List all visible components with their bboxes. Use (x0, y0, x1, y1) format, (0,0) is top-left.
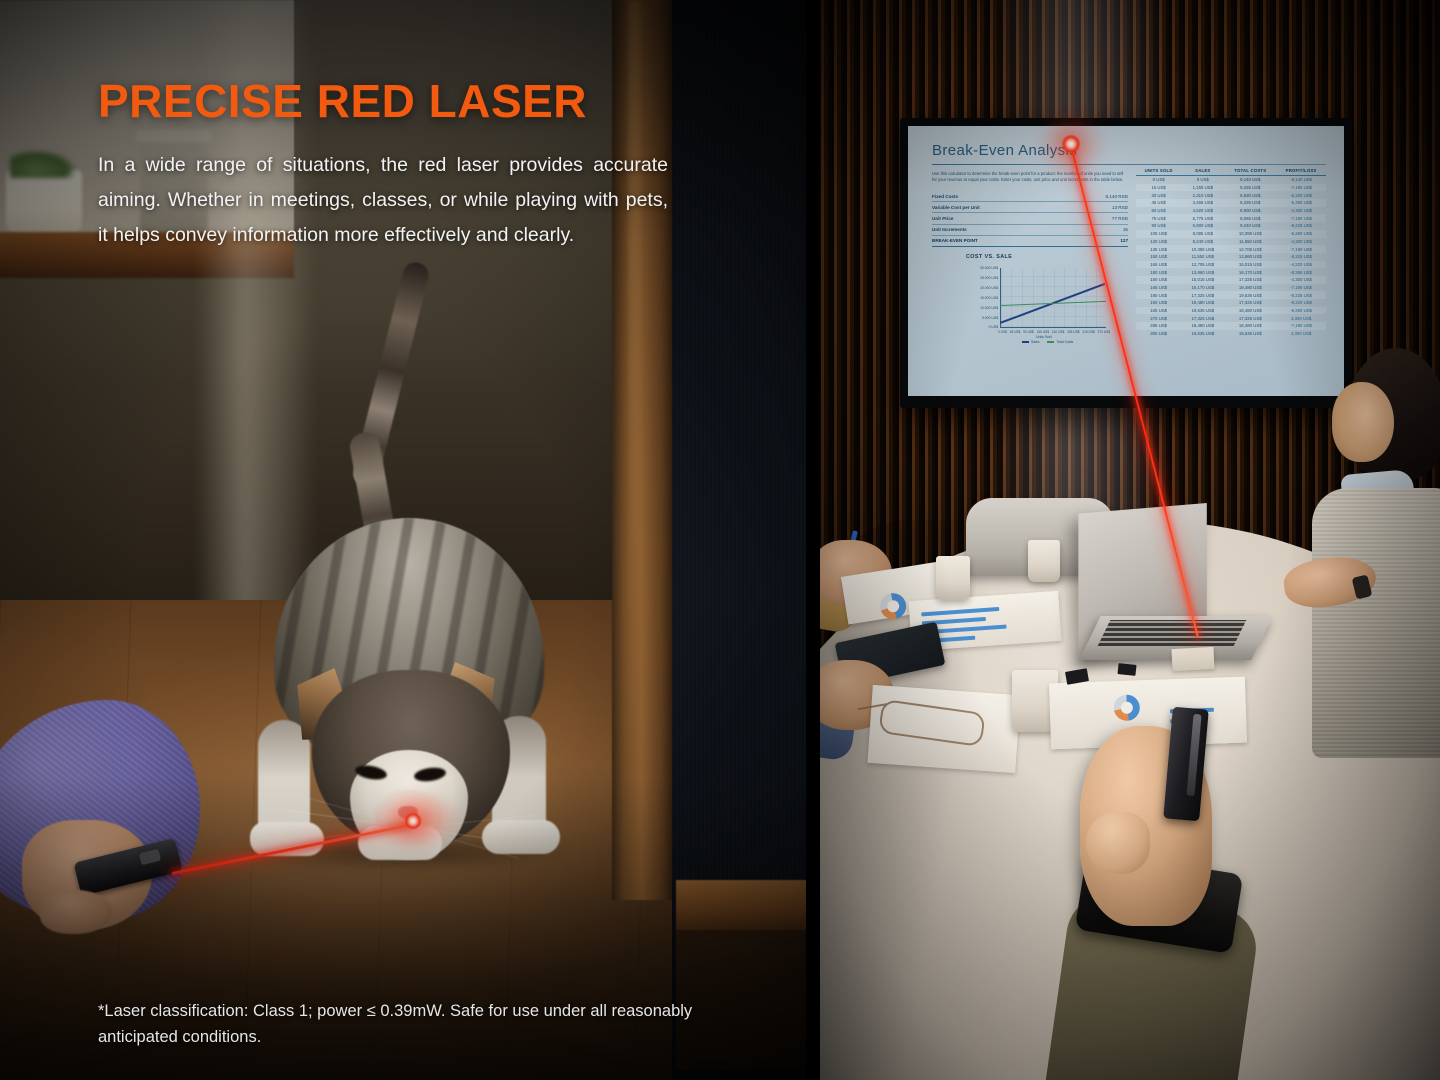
legend-label-total-costs: Total Costs (1056, 340, 1073, 344)
donut-chart-icon-2 (1113, 694, 1140, 721)
participant-woman (1296, 348, 1440, 768)
presenter-thumb (1086, 812, 1150, 874)
table-cell: 15,015 US$ (1181, 276, 1224, 284)
sticky-note (1171, 647, 1214, 671)
table-cell: 18,480 US$ (1181, 299, 1224, 307)
right-panel-meeting-scene: Break-Even Analysis Use this calculator … (818, 0, 1440, 1080)
table-cell: 285 US$ (1136, 322, 1181, 330)
table-cell: 17,325 US$ (1224, 314, 1276, 322)
table-cell: 19,635 US$ (1181, 330, 1224, 338)
column-header: TOTAL COSTS (1224, 168, 1276, 176)
table-cell: 13,860 US$ (1224, 253, 1276, 261)
table-cell: 16,170 US$ (1181, 284, 1224, 292)
page-title: PRECISE RED LASER (98, 74, 587, 128)
plant-leaves-icon (10, 150, 76, 178)
y-tick-3: 15.000 US$ (980, 296, 998, 300)
data-table-head: UNITS SOLDSALESTOTAL COSTSPROFIT/LOSS (1136, 168, 1326, 176)
table-cell: 60 US$ (1136, 207, 1181, 215)
cat (230, 250, 590, 850)
table-row: 60 US$4,620 US$8,900 US$-4,300 US$ (1136, 207, 1326, 215)
x-tick-label: 90 US$ (1023, 330, 1034, 334)
column-header: UNITS SOLD (1136, 168, 1181, 176)
slide-title: Break-Even Analysis (932, 142, 1326, 159)
cost-vs-sale-chart: 30.000 US$ 25.000 US$ 20.000 US$ 15.000 … (960, 264, 1108, 338)
slide-title-rule (932, 164, 1326, 165)
table-cell: 135 US$ (1136, 245, 1181, 253)
parameter-value: 13 RSD (1065, 202, 1128, 213)
table-row: 0 US$0 US$8,140 US$-8,140 US$ (1136, 176, 1326, 184)
woman-face (1332, 382, 1394, 462)
y-tick-6: 0 US$ (989, 325, 998, 329)
table-row: 120 US$9,240 US$11,550 US$-4,300 US$ (1136, 238, 1326, 246)
table-cell: 180 US$ (1136, 291, 1181, 299)
x-axis-label: Units Sold (1036, 335, 1051, 339)
table-cell: 17,325 US$ (1224, 299, 1276, 307)
table-cell: 150 US$ (1136, 276, 1181, 284)
table-cell: 16,170 US$ (1224, 268, 1276, 276)
table-cell: 165 US$ (1136, 307, 1181, 315)
table-cell: -6,220 US$ (1276, 191, 1326, 199)
plant-pot-left (6, 170, 82, 236)
y-tick-5: 5.000 US$ (982, 316, 998, 320)
table-cell: 8,530 US$ (1224, 191, 1276, 199)
legend-item-total-costs: Total Costs (1047, 340, 1073, 344)
table-cell: -7,190 US$ (1276, 284, 1326, 292)
table-row: 150 US$11,550 US$13,860 US$-8,225 US$ (1136, 253, 1326, 261)
parameter-row: BREAK-EVEN POINT127 (932, 235, 1128, 246)
left-panel-cat-scene: PRECISE RED LASER In a wide range of sit… (0, 0, 812, 1080)
table-cell: 9,240 US$ (1224, 222, 1276, 230)
parameter-row: Fixed Costs8,140 RSD (932, 191, 1128, 202)
table-row: 165 US$16,170 US$18,480 US$-7,190 US$ (1136, 284, 1326, 292)
door-jamb-highlight (628, 0, 640, 900)
table-cell: 2,310 US$ (1181, 191, 1224, 199)
chart-series-group (1000, 268, 1106, 328)
x-tick-label: 140 US$ (1052, 330, 1064, 334)
y-tick-4: 10.000 US$ (980, 306, 998, 310)
fingers-left (40, 890, 112, 934)
parameter-row: Variable Cost per Unit13 RSD (932, 202, 1128, 213)
cat-paw-right (482, 820, 560, 854)
binder-clip-2 (1117, 663, 1136, 676)
table-cell: 11,550 US$ (1181, 253, 1224, 261)
parameter-label: Unit Price (932, 213, 1065, 224)
table-cell: -8,290 US$ (1276, 268, 1326, 276)
data-table-header-row: UNITS SOLDSALESTOTAL COSTSPROFIT/LOSS (1136, 168, 1326, 176)
legend-item-sales: Sales (1022, 340, 1039, 344)
table-cell: -8,225 US$ (1276, 222, 1326, 230)
table-cell: 1,155 US$ (1181, 184, 1224, 192)
x-tick-label: 270 US$ (1098, 330, 1110, 334)
table-cell: 0 US$ (1136, 176, 1181, 184)
parameters-table-body: Fixed Costs8,140 RSDVariable Cost per Un… (932, 191, 1128, 246)
table-cell: 19,635 US$ (1224, 330, 1276, 338)
laser-dot-on-screen (1061, 134, 1081, 154)
table-cell: -5,260 US$ (1276, 230, 1326, 238)
parameter-value: 8,140 RSD (1065, 191, 1128, 202)
table-row: 75 US$5,775 US$8,065 US$-7,190 US$ (1136, 214, 1326, 222)
table-cell: 8,900 US$ (1224, 207, 1276, 215)
slide-intro-text: Use this calculator to determine the bre… (932, 171, 1128, 183)
chart-title: COST VS. SALE (966, 254, 1012, 260)
table-row: 135 US$10,395 US$12,705 US$-7,190 US$ (1136, 245, 1326, 253)
x-tick-label: 215 US$ (1082, 330, 1094, 334)
bar-1 (921, 607, 999, 616)
x-tick-label: 0 US$ (998, 330, 1007, 334)
table-cell: -7,190 US$ (1276, 245, 1326, 253)
y-tick-1: 25.000 US$ (980, 276, 998, 280)
laptop-keyboard[interactable] (1098, 620, 1247, 646)
table-cell: -4,300 US$ (1276, 207, 1326, 215)
table-cell: 45 US$ (1136, 199, 1181, 207)
table-cell: -8,225 US$ (1276, 291, 1326, 299)
table-row: 270 US$17,325 US$17,325 US$4,300 US$ (1136, 314, 1326, 322)
parameter-value: 15 (1065, 224, 1128, 235)
parameter-label: Variable Cost per Unit (932, 202, 1065, 213)
x-tick-labels: 0 US$45 US$90 US$135 US$140 US$205 US$21… (998, 330, 1110, 334)
legend-swatch-sales (1022, 341, 1029, 342)
table-row: 105 US$8,085 US$10,395 US$-5,260 US$ (1136, 230, 1326, 238)
table-cell: 165 US$ (1136, 284, 1181, 292)
table-cell: -8,290 US$ (1276, 307, 1326, 315)
table-cell: -4,300 US$ (1276, 276, 1326, 284)
table-cell: 15 US$ (1136, 184, 1181, 192)
parameter-label: Fixed Costs (932, 191, 1065, 202)
table-row: 150 US$18,480 US$17,325 US$-8,220 US$ (1136, 299, 1326, 307)
table-cell: 30 US$ (1136, 191, 1181, 199)
table-cell: -7,190 US$ (1276, 322, 1326, 330)
table-cell: 8,140 US$ (1224, 176, 1276, 184)
parameter-row: Unit Price77 RSD (932, 213, 1128, 224)
table-cell: 8,335 US$ (1224, 199, 1276, 207)
table-cell: -5,290 US$ (1276, 199, 1326, 207)
column-header: PROFIT/LOSS (1276, 168, 1326, 176)
table-row: 150 US$15,015 US$17,325 US$-4,300 US$ (1136, 276, 1326, 284)
table-row: 165 US$12,705 US$15,015 US$-4,220 US$ (1136, 261, 1326, 269)
table-cell: 13,860 US$ (1181, 268, 1224, 276)
table-cell: 12,705 US$ (1224, 245, 1276, 253)
legend-swatch-total-costs (1047, 341, 1054, 342)
table-cell: 120 US$ (1136, 238, 1181, 246)
cabinet-texture (672, 0, 812, 880)
table-cell: 18,480 US$ (1224, 284, 1276, 292)
table-cell: 4,620 US$ (1181, 207, 1224, 215)
table-cell: 105 US$ (1136, 230, 1181, 238)
table-cell: 10,395 US$ (1224, 230, 1276, 238)
table-row: 285 US$18,480 US$18,480 US$-7,190 US$ (1136, 322, 1326, 330)
table-cell: 12,705 US$ (1181, 261, 1224, 269)
door-jamb (612, 0, 676, 900)
table-cell: 19,635 US$ (1181, 307, 1224, 315)
table-cell: -8,140 US$ (1276, 176, 1326, 184)
table-row: 180 US$13,860 US$16,170 US$-8,290 US$ (1136, 268, 1326, 276)
table-cell: 19,635 US$ (1224, 291, 1276, 299)
table-cell: 165 US$ (1136, 261, 1181, 269)
table-cell: 150 US$ (1136, 299, 1181, 307)
table-cell: -8,220 US$ (1276, 299, 1326, 307)
table-cell: 150 US$ (1136, 253, 1181, 261)
laser-dot-left (404, 812, 422, 830)
table-cell: 6,900 US$ (1181, 222, 1224, 230)
table-cell: 15,015 US$ (1224, 261, 1276, 269)
table-cell: 270 US$ (1136, 314, 1181, 322)
table-cell: 17,325 US$ (1181, 314, 1224, 322)
body-copy: In a wide range of situations, the red l… (98, 148, 668, 253)
x-tick-label: 45 US$ (1010, 330, 1021, 334)
table-cell: -8,225 US$ (1276, 253, 1326, 261)
table-cell: 90 US$ (1136, 222, 1181, 230)
table-cell: 9,240 US$ (1181, 238, 1224, 246)
table-row: 45 US$3,465 US$8,335 US$-5,290 US$ (1136, 199, 1326, 207)
table-cell: -4,300 US$ (1276, 238, 1326, 246)
parameter-label: Unit Increments (932, 224, 1065, 235)
column-header: SALES (1181, 168, 1224, 176)
table-row: 165 US$19,635 US$18,480 US$-8,290 US$ (1136, 307, 1326, 315)
woman-jacket-texture (1312, 488, 1440, 758)
table-cell: 11,550 US$ (1224, 238, 1276, 246)
table-cell: 75 US$ (1136, 214, 1181, 222)
table-row: 15 US$1,155 US$8,335 US$-7,190 US$ (1136, 184, 1326, 192)
chart-legend: Sales Total Costs (1022, 340, 1073, 344)
data-table-body: 0 US$0 US$8,140 US$-8,140 US$15 US$1,155… (1136, 176, 1326, 338)
table-cell: 17,325 US$ (1181, 291, 1224, 299)
table-cell: 18,480 US$ (1224, 322, 1276, 330)
table-cell: 17,325 US$ (1224, 276, 1276, 284)
table-cell: 180 US$ (1136, 268, 1181, 276)
promo-banner: PRECISE RED LASER In a wide range of sit… (0, 0, 1440, 1080)
table-cell: 8,335 US$ (1224, 184, 1276, 192)
legend-label-sales: Sales (1031, 340, 1039, 344)
parameter-value: 77 RSD (1065, 213, 1128, 224)
table-cell: 8,065 US$ (1224, 214, 1276, 222)
x-tick-label: 205 US$ (1067, 330, 1079, 334)
coffee-mug-1 (936, 556, 970, 600)
y-tick-0: 30.000 US$ (980, 266, 998, 270)
table-row: 180 US$17,325 US$19,635 US$-8,225 US$ (1136, 291, 1326, 299)
laser-classification-footnote: *Laser classification: Class 1; power ≤ … (98, 998, 768, 1050)
table-cell: 4,300 US$ (1276, 314, 1326, 322)
table-cell: -7,190 US$ (1276, 184, 1326, 192)
table-cell: -4,220 US$ (1276, 261, 1326, 269)
table-cell: 300 US$ (1136, 330, 1181, 338)
parameters-table: Fixed Costs8,140 RSDVariable Cost per Un… (932, 191, 1128, 247)
break-even-data-table: UNITS SOLDSALESTOTAL COSTSPROFIT/LOSS 0 … (1136, 168, 1326, 337)
cabinet-wood-trim (676, 880, 812, 932)
table-cell: 8,085 US$ (1181, 230, 1224, 238)
coffee-mug-2 (1028, 540, 1060, 582)
table-cell: 3,465 US$ (1181, 199, 1224, 207)
y-tick-2: 20.000 US$ (980, 286, 998, 290)
parameter-label: BREAK-EVEN POINT (932, 235, 1065, 246)
table-cell: 18,480 US$ (1224, 307, 1276, 315)
parameter-row: Unit Increments15 (932, 224, 1128, 235)
table-cell: -7,190 US$ (1276, 214, 1326, 222)
table-row: 300 US$19,635 US$19,635 US$4,300 US$ (1136, 330, 1326, 338)
table-cell: 4,300 US$ (1276, 330, 1326, 338)
table-cell: 5,775 US$ (1181, 214, 1224, 222)
x-tick-label: 135 US$ (1037, 330, 1049, 334)
panel-divider (806, 0, 820, 1080)
table-cell: 0 US$ (1181, 176, 1224, 184)
table-row: 90 US$6,900 US$9,240 US$-8,225 US$ (1136, 222, 1326, 230)
table-row: 30 US$2,310 US$8,530 US$-6,220 US$ (1136, 191, 1326, 199)
table-cell: 18,480 US$ (1181, 322, 1224, 330)
table-cell: 10,395 US$ (1181, 245, 1224, 253)
